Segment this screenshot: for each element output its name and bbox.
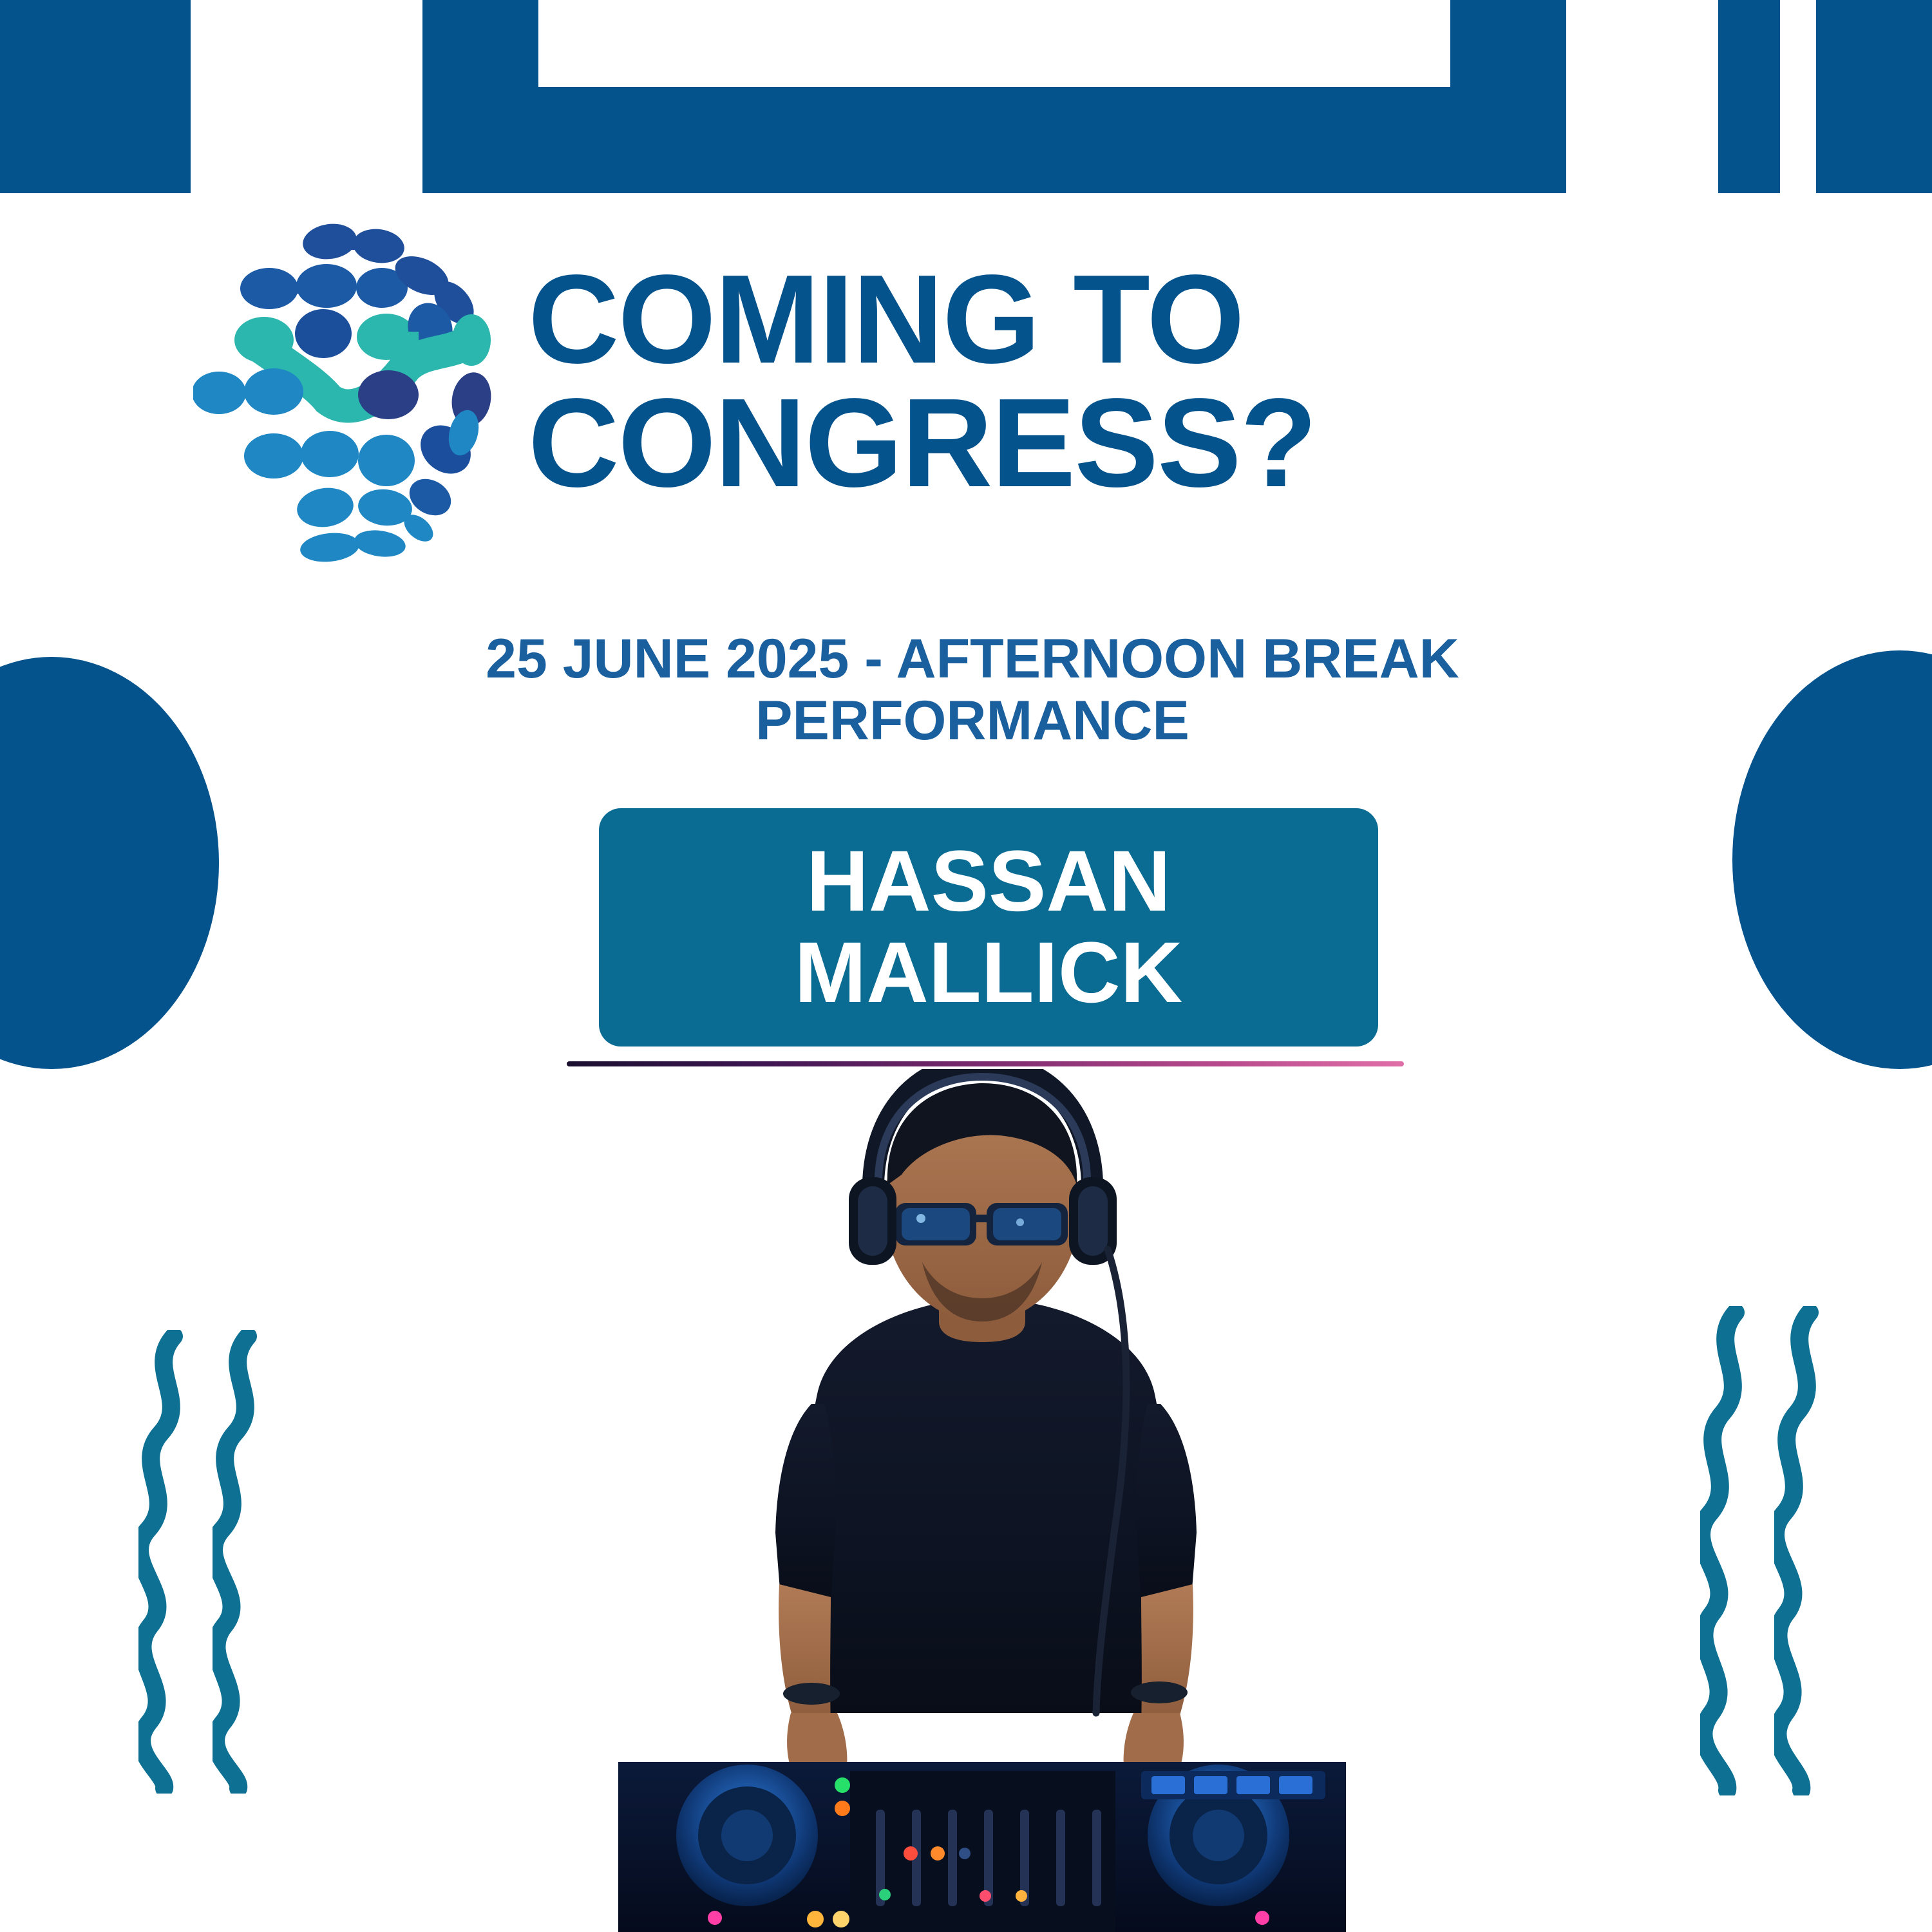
top-bar-right [1816,0,1932,193]
headline-line-2: CONGRESS? [528,381,1533,505]
performer-name: HASSANMALLICK [795,836,1183,1019]
squiggle-right-2 [1774,1306,1832,1795]
poster-canvas: COMING TO CONGRESS? 25 JUNE 2025 - AFTER… [0,0,1932,1932]
page-title: COMING TO CONGRESS? [528,258,1533,505]
top-decoration [0,0,1932,193]
squiggle-right-1 [1700,1306,1758,1795]
headline-line-1: COMING TO [528,249,1244,390]
circle-decoration-left [0,657,219,1069]
event-subtitle: 25 JUNE 2025 - AFTERNOON BREAK PERFORMAN… [270,628,1674,752]
top-block [422,0,1566,193]
dj-controller [618,1762,1346,1932]
circle-decoration-right [1732,650,1932,1069]
dj-watch [1131,1681,1188,1703]
congress-globe-logo-icon [193,206,496,573]
squiggle-left-2 [213,1330,270,1794]
dj-wristband [783,1683,840,1705]
performer-name-badge[interactable]: HASSANMALLICK [599,808,1378,1046]
top-bar-left [0,0,191,193]
gradient-divider [567,1061,1404,1066]
squiggle-left-1 [138,1330,196,1794]
top-bar-mid [1718,0,1780,193]
top-notch-cutout [538,0,1450,87]
dj-performer-photo [618,1069,1346,1932]
